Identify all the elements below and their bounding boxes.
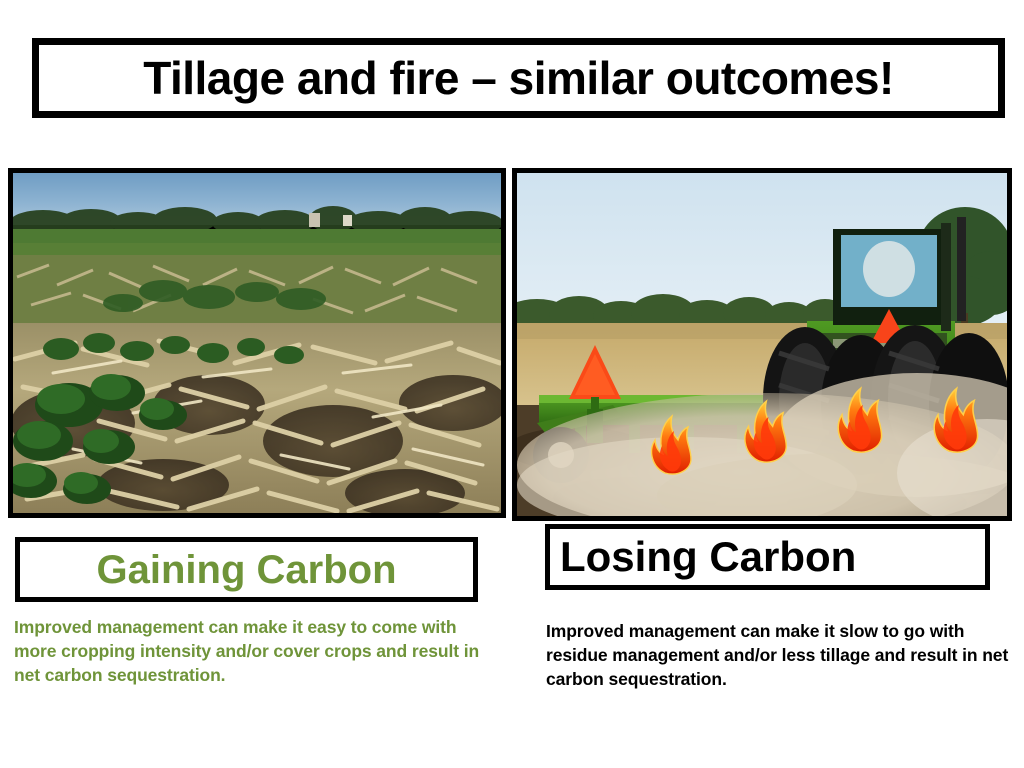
page-title: Tillage and fire – similar outcomes! <box>143 55 894 101</box>
caption-box-gaining-carbon: Gaining Carbon <box>15 537 478 602</box>
body-text-gaining-carbon: Improved management can make it easy to … <box>14 616 494 688</box>
slide-title-box: Tillage and fire – similar outcomes! <box>32 38 1005 118</box>
caption-label-losing-carbon: Losing Carbon <box>560 536 856 578</box>
field-residue-photo <box>13 173 501 513</box>
caption-box-losing-carbon: Losing Carbon <box>545 524 990 590</box>
body-text-losing-carbon: Improved management can make it slow to … <box>546 620 1016 692</box>
photo-frame-gaining-carbon <box>8 168 506 518</box>
photo-frame-losing-carbon <box>512 168 1012 521</box>
tractor-tillage-photo <box>517 173 1007 516</box>
caption-label-gaining-carbon: Gaining Carbon <box>97 550 397 590</box>
